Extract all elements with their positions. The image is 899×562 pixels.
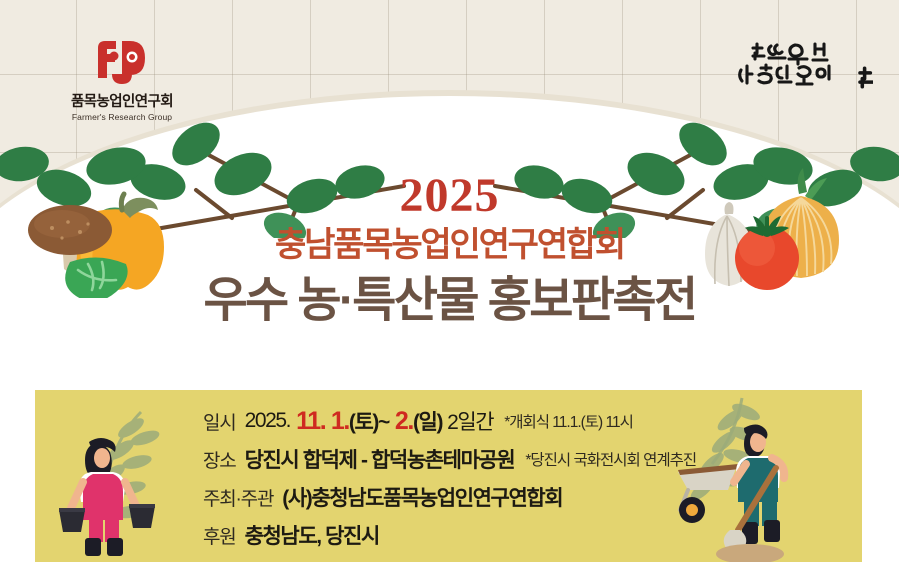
date-label: 일시 xyxy=(203,408,236,435)
date-start-red: 11. 1. xyxy=(296,407,349,436)
poster-canvas: 품목농업인연구회 Farmer's Research Group xyxy=(0,0,899,562)
handwritten-slogan-icon xyxy=(733,34,873,104)
logo-name-korean: 품목농업인연구회 xyxy=(42,90,202,111)
organization-title: 충남품목농업인연구연합회 xyxy=(0,226,899,265)
title-block: 2025 충남품목농업인연구연합회 우수 농·특산물 홍보판촉전 xyxy=(0,172,899,328)
date-end-red: 2. xyxy=(395,407,413,436)
page-title: 우수 농·특산물 홍보판촉전 xyxy=(0,275,899,328)
host-value: (사)충청남도품목농업인연구연합회 xyxy=(282,482,562,512)
place-value: 당진시 합덕제 - 합덕농촌테마공원 xyxy=(245,444,515,474)
fd-monogram-face-icon xyxy=(92,36,152,86)
info-panel: 일시 2025. 11. 1. (토)~ 2. (일) 2일간 *개회식 11.… xyxy=(35,390,862,562)
info-line-date: 일시 2025. 11. 1. (토)~ 2. (일) 2일간 *개회식 11.… xyxy=(203,402,862,440)
sponsor-label: 후원 xyxy=(203,522,236,549)
place-label: 장소 xyxy=(203,446,236,473)
place-note: *당진시 국화전시회 연계추진 xyxy=(525,448,696,470)
organization-logo-left: 품목농업인연구회 Farmer's Research Group xyxy=(42,36,202,122)
sponsor-value: 충청남도, 당진시 xyxy=(245,520,379,550)
info-text-lines: 일시 2025. 11. 1. (토)~ 2. (일) 2일간 *개회식 11.… xyxy=(35,402,862,554)
date-year: 2025. xyxy=(245,409,291,433)
info-line-place: 장소 당진시 합덕제 - 합덕농촌테마공원 *당진시 국화전시회 연계추진 xyxy=(203,440,862,478)
info-line-sponsor: 후원 충청남도, 당진시 xyxy=(203,516,862,554)
date-end-weekday: (일) xyxy=(413,406,442,436)
year-title: 2025 xyxy=(0,172,899,220)
chungnam-slogan-logo xyxy=(733,34,873,104)
date-start-weekday: (토)~ xyxy=(349,406,389,436)
date-duration: 2일간 xyxy=(447,406,493,436)
info-line-host: 주최·주관 (사)충청남도품목농업인연구연합회 xyxy=(203,478,862,516)
host-label: 주최·주관 xyxy=(203,484,273,511)
logo-name-english: Farmer's Research Group xyxy=(42,112,202,122)
date-note: *개회식 11.1.(토) 11시 xyxy=(504,410,633,432)
